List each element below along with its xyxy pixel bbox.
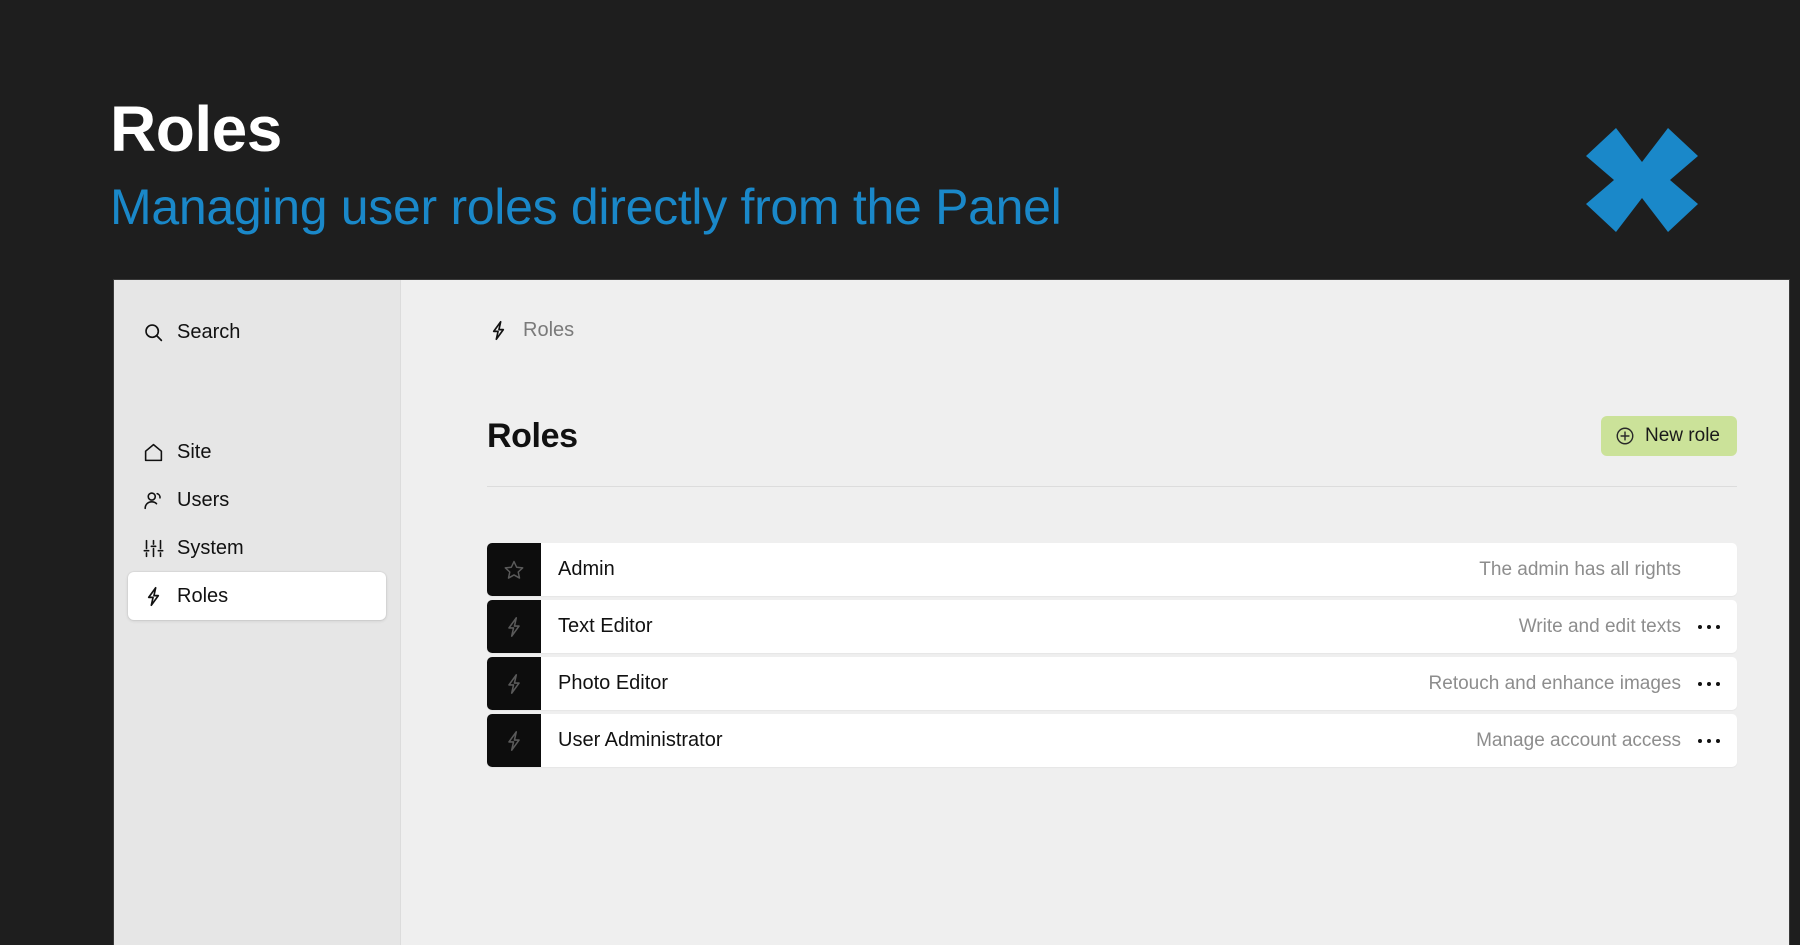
role-description: Write and edit texts [1519, 600, 1681, 653]
table-row[interactable]: Text Editor Write and edit texts [487, 600, 1737, 653]
sidebar-item-system[interactable]: System [128, 524, 386, 572]
sidebar-item-label: Site [177, 441, 211, 464]
role-description: Retouch and enhance images [1429, 657, 1681, 710]
ellipsis-icon [1698, 682, 1720, 686]
search-icon [142, 321, 164, 343]
ellipsis-icon [1698, 625, 1720, 629]
role-description: Manage account access [1476, 714, 1681, 767]
role-name: Admin [541, 543, 1479, 596]
users-icon [142, 489, 164, 511]
roles-section: Roles New role [487, 416, 1737, 767]
ellipsis-icon [1698, 739, 1720, 743]
section-title: Roles [487, 417, 578, 456]
plus-circle-icon [1614, 426, 1635, 447]
section-header: Roles New role [487, 416, 1737, 456]
page-subtitle: Managing user roles directly from the Pa… [110, 182, 1061, 232]
bolt-icon [487, 319, 509, 341]
sidebar-item-label: Roles [177, 585, 228, 608]
bolt-icon [487, 714, 541, 767]
new-role-label: New role [1645, 425, 1720, 447]
page-title: Roles [110, 97, 282, 161]
kirby-x-logo-icon [1586, 128, 1698, 232]
panel-content: Roles Roles New role [401, 280, 1789, 945]
sidebar-item-site[interactable]: Site [128, 428, 386, 476]
role-options-placeholder [1681, 543, 1737, 596]
sidebar-item-search[interactable]: Search [128, 308, 386, 356]
bolt-icon [142, 585, 164, 607]
section-divider [487, 486, 1737, 487]
role-options-button[interactable] [1681, 657, 1737, 710]
sidebar-item-users[interactable]: Users [128, 476, 386, 524]
home-icon [142, 441, 164, 463]
sliders-icon [142, 537, 164, 559]
breadcrumb[interactable]: Roles [487, 306, 1753, 354]
role-options-button[interactable] [1681, 714, 1737, 767]
role-name: User Administrator [541, 714, 1476, 767]
role-options-button[interactable] [1681, 600, 1737, 653]
table-row[interactable]: User Administrator Manage account access [487, 714, 1737, 767]
new-role-button[interactable]: New role [1601, 416, 1737, 456]
sidebar-item-roles[interactable]: Roles [128, 572, 386, 620]
panel-sidebar: Search Site Us [114, 280, 401, 945]
role-name: Text Editor [541, 600, 1519, 653]
page-header: Roles Managing user roles directly from … [0, 0, 1800, 279]
roles-list: Admin The admin has all rights Text Edit… [487, 543, 1737, 767]
bolt-icon [487, 657, 541, 710]
sidebar-search-label: Search [177, 321, 240, 344]
screenshot-root: Roles Managing user roles directly from … [0, 0, 1800, 945]
role-name: Photo Editor [541, 657, 1429, 710]
table-row[interactable]: Admin The admin has all rights [487, 543, 1737, 596]
sidebar-item-label: Users [177, 489, 229, 512]
breadcrumb-label: Roles [523, 319, 574, 342]
sidebar-item-label: System [177, 537, 244, 560]
kirby-panel: Search Site Us [113, 279, 1790, 945]
role-description: The admin has all rights [1479, 543, 1681, 596]
sidebar-spacer [114, 356, 400, 428]
table-row[interactable]: Photo Editor Retouch and enhance images [487, 657, 1737, 710]
star-icon [487, 543, 541, 596]
bolt-icon [487, 600, 541, 653]
